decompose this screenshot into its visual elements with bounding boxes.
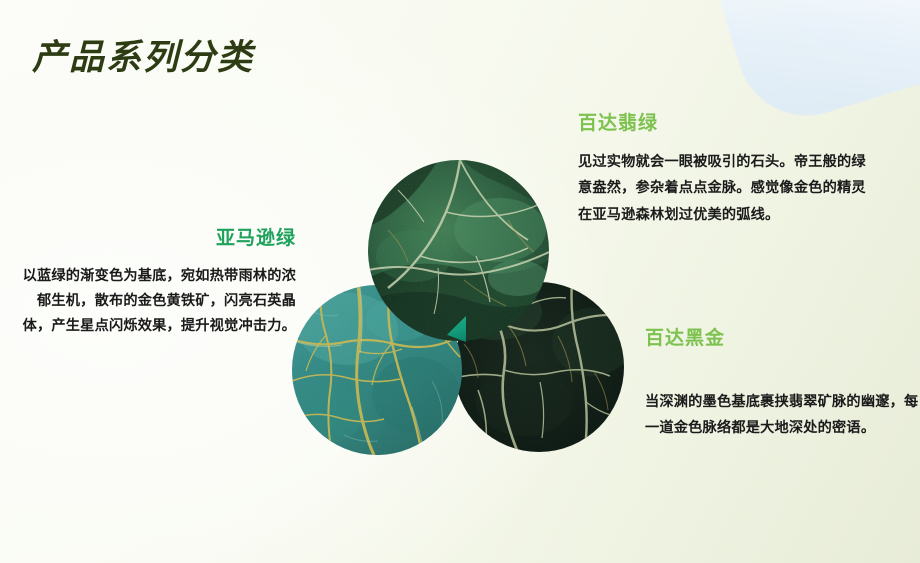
product-image-emerald-green[interactable] (368, 160, 549, 341)
product-heading-emerald-green: 百达翡绿 (578, 113, 868, 136)
page-title: 产品系列分类 (32, 38, 254, 78)
product-block-amazon-green: 亚马逊绿 以蓝绿的渐变色为基底，宛如热带雨林的浓郁生机，散布的金色黄铁矿，闪亮石… (18, 228, 296, 340)
product-block-black-gold: 百达黑金 当深渊的墨色基底裹挟翡翠矿脉的幽邃，每一道金色脉络都是大地深处的密语。 (645, 328, 920, 442)
product-body-emerald-green: 见过实物就会一眼被吸引的石头。帝王般的绿意盎然，参杂着点点金脉。感觉像金色的精灵… (578, 149, 868, 228)
product-body-amazon-green: 以蓝绿的渐变色为基底，宛如热带雨林的浓郁生机，散布的金色黄铁矿，闪亮石英晶体，产… (18, 264, 296, 340)
slide-canvas: 产品系列分类 (0, 0, 920, 563)
product-block-emerald-green: 百达翡绿 见过实物就会一眼被吸引的石头。帝王般的绿意盎然，参杂着点点金脉。感觉像… (578, 113, 868, 228)
product-body-black-gold: 当深渊的墨色基底裹挟翡翠矿脉的幽邃，每一道金色脉络都是大地深处的密语。 (645, 389, 920, 442)
product-heading-amazon-green: 亚马逊绿 (18, 228, 296, 251)
product-heading-black-gold: 百达黑金 (645, 328, 920, 351)
